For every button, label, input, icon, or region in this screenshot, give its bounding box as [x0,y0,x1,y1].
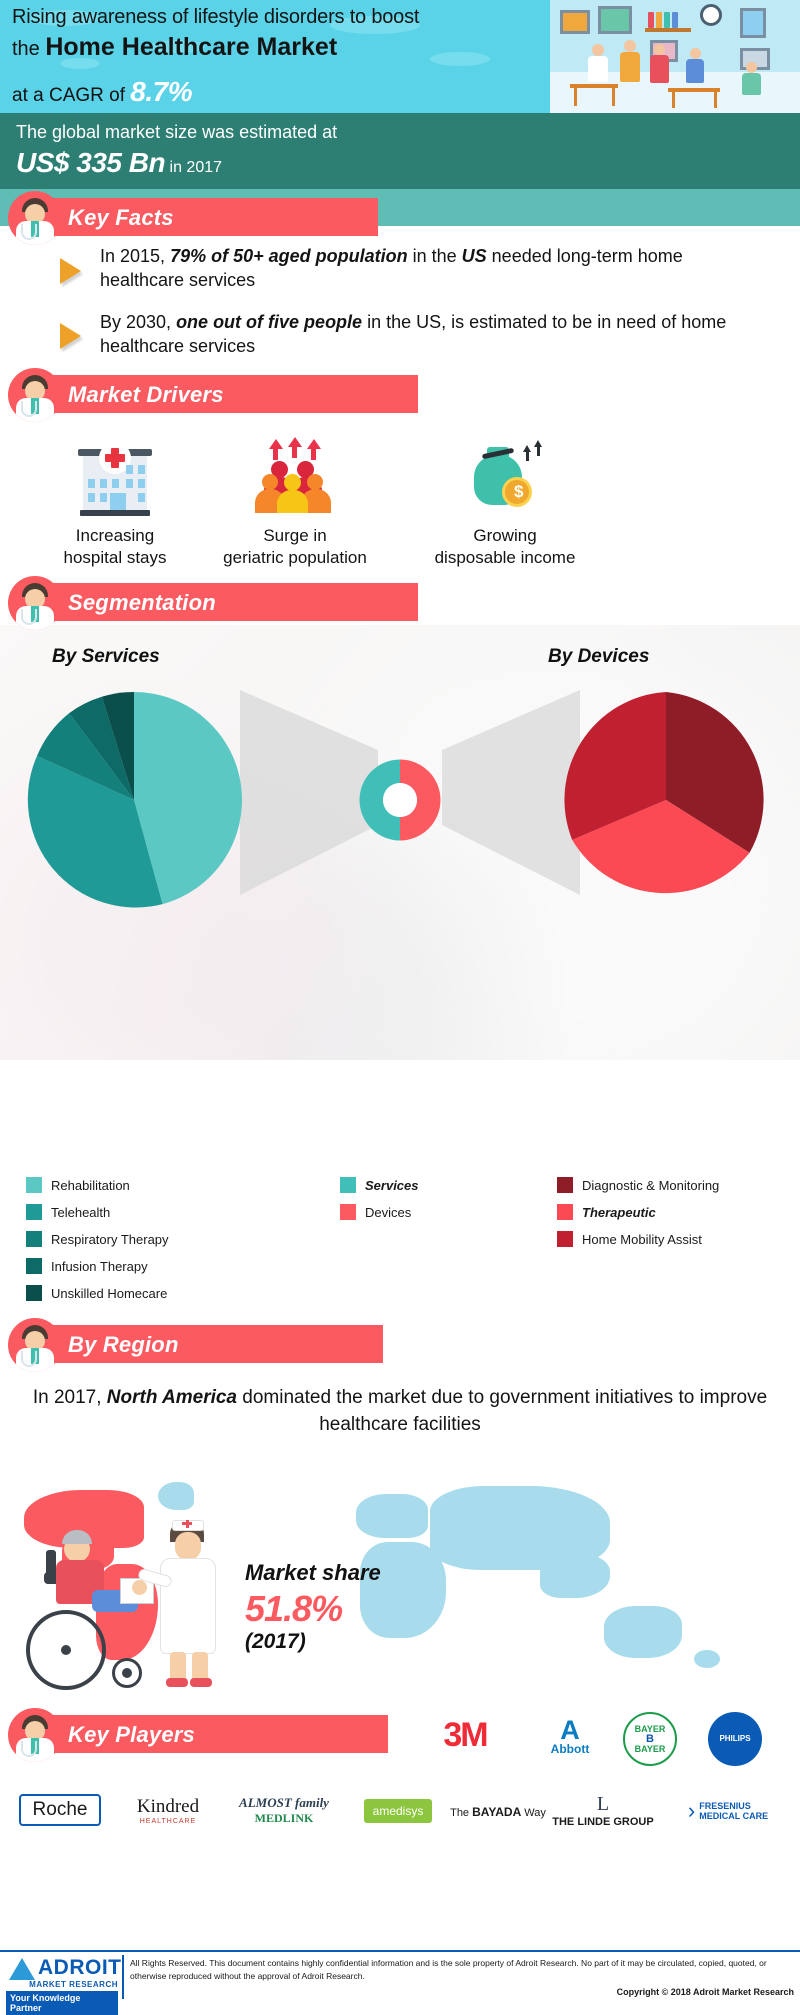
key-facts-title: Key Facts [68,205,174,231]
legend-swatch-icon [340,1204,356,1220]
legend-label: Home Mobility Assist [582,1232,702,1247]
doctor-avatar-icon [8,576,62,630]
fact-2-prefix: By 2030, [100,312,176,332]
market-size-value: US$ 335 Bn in 2017 [16,147,222,179]
map-region-new-zealand [694,1650,720,1668]
market-driver-item: Increasing hospital stays [10,437,220,569]
legend-label: Therapeutic [582,1205,656,1220]
adroit-triangle-icon [9,1958,35,1980]
driver-label-line-2: geriatric population [190,547,400,569]
segmentation-title: Segmentation [68,590,216,616]
legend-swatch-icon [26,1258,42,1274]
driver-label-line-2: hospital stays [10,547,220,569]
logo-abbott: A Abbott [530,1714,610,1760]
bullet-triangle-icon [60,323,81,349]
services-pie-chart [14,680,254,920]
by-region-title: By Region [68,1332,179,1358]
doctor-avatar-icon [8,368,62,422]
money-bag-icon: $ [460,437,550,517]
market-driver-item: Surge in geriatric population [190,437,400,569]
legend-label: Respiratory Therapy [51,1232,169,1247]
header-illustration [550,0,800,113]
section-header-segmentation: Segmentation [8,583,408,623]
market-size-number: US$ 335 Bn [16,147,165,178]
cagr-value: 8.7% [130,76,192,107]
legend-label: Diagnostic & Monitoring [582,1178,719,1193]
market-share-value: 51.8% [245,1588,342,1630]
header-line-2-prefix: the [12,38,45,60]
market-driver-item: $ Growing disposable income [400,437,610,569]
section-header-by-region: By Region [8,1325,383,1365]
header-cagr-line: at a CAGR of 8.7% [12,76,192,108]
legend-label: Devices [365,1205,411,1220]
section-header-market-drivers: Market Drivers [8,375,408,415]
market-split-donut-chart [355,755,445,845]
legend-item-home-mobility-assist: Home Mobility Assist [557,1231,702,1247]
legend-swatch-icon [557,1204,573,1220]
driver-label-line-2: disposable income [400,547,610,569]
key-players-title: Key Players [68,1722,195,1748]
legend-swatch-icon [340,1177,356,1193]
section-header-key-players: Key Players [8,1715,388,1755]
fact-1-strong-2: US [462,246,487,266]
legend-label: Infusion Therapy [51,1259,148,1274]
logo-philips: PHILIPS [705,1710,765,1768]
legend-label: Services [365,1178,419,1193]
wheelchair-large-wheel-icon [26,1610,106,1690]
chevron-icon: › [688,1798,695,1824]
map-region-africa [360,1542,446,1638]
key-fact-item: In 2015, 79% of 50+ aged population in t… [100,245,760,293]
legend-item-telehealth: Telehealth [26,1204,110,1220]
logo-the-linde-group: L THE LINDE GROUP [548,1790,658,1830]
legend-item-services: Services [340,1177,419,1193]
legend-item-rehabilitation: Rehabilitation [26,1177,130,1193]
legend-swatch-icon [26,1177,42,1193]
fact-1-prefix: In 2015, [100,246,170,266]
map-region-australia [604,1606,682,1658]
legend-item-respiratory-therapy: Respiratory Therapy [26,1231,169,1247]
market-share-title: Market share [245,1560,381,1586]
header: Rising awareness of lifestyle disorders … [0,0,800,188]
region-text-prefix: In 2017, [33,1387,107,1408]
footer-copyright: Copyright © 2018 Adroit Market Research [617,1987,794,1997]
nurse-uniform [160,1558,216,1654]
market-size-label: The global market size was estimated at [16,122,337,143]
footer-divider [122,1955,124,1999]
region-text-strong: North America [107,1387,237,1408]
logo-bayer: BAYER B BAYER [620,1710,680,1768]
cloud-shape [430,52,490,66]
geriatric-people-icon [250,437,340,517]
legend-swatch-icon [26,1285,42,1301]
bullet-triangle-icon [60,258,81,284]
nurse-head [175,1532,201,1560]
devices-pie-chart [546,680,786,920]
driver-label-line-1: Growing [400,525,610,547]
legend-swatch-icon [557,1231,573,1247]
doctor-avatar-icon [8,1708,62,1762]
fact-1-mid: in the [408,246,462,266]
by-devices-label: By Devices [548,646,649,668]
map-region-greenland [158,1482,194,1510]
market-size-year: in 2017 [165,159,222,176]
hospital-icon [70,437,160,517]
fact-2-mid: in the US, is estimated [362,312,547,332]
header-market-name: Home Healthcare Market [45,33,337,61]
logo-amedisys: amedisys [352,1795,444,1827]
legend-item-unskilled-homecare: Unskilled Homecare [26,1285,167,1301]
logo-kindred-healthcare: Kindred HEALTHCARE [118,1790,218,1830]
legend-label: Telehealth [51,1205,110,1220]
driver-label-line-1: Increasing [10,525,220,547]
legend-item-diagnostic-monitoring: Diagnostic & Monitoring [557,1177,719,1193]
logo-almost-family-medlink: ALMOST family MEDLINK [225,1790,343,1830]
logo-3m: 3M [425,1712,505,1758]
legend-item-infusion-therapy: Infusion Therapy [26,1258,148,1274]
market-share-year: (2017) [245,1630,306,1654]
footer: ADROIT MARKET RESEARCH Your Knowledge Pa… [0,1950,800,2000]
wheelchair-small-wheel-icon [112,1658,142,1688]
map-region-southeast-asia [540,1554,610,1598]
wheelchair-patient-illustration [20,1520,270,1695]
header-line-2: the Home Healthcare Market [12,33,337,62]
header-line-1: Rising awareness of lifestyle disorders … [12,6,419,29]
adroit-logo: ADROIT MARKET RESEARCH Your Knowledge Pa… [6,1956,118,2015]
doctor-avatar-icon [8,1318,62,1372]
legend-label: Rehabilitation [51,1178,130,1193]
fact-1-strong: 79% of 50+ aged population [170,246,408,266]
map-region-europe [356,1494,428,1538]
fact-2-strong: one out of five people [176,312,362,332]
doctor-avatar-icon [8,191,62,245]
footer-disclaimer: All Rights Reserved. This document conta… [130,1957,795,1983]
logo-bayada: The BAYADA Way [450,1795,546,1829]
cagr-prefix: at a CAGR of [12,85,130,106]
section-header-key-facts: Key Facts [8,198,378,238]
region-description: In 2017, North America dominated the mar… [0,1385,800,1439]
key-fact-item: By 2030, one out of five people in the U… [100,311,760,359]
legend-swatch-icon [26,1204,42,1220]
market-drivers-title: Market Drivers [68,382,224,408]
driver-label-line-1: Surge in [190,525,400,547]
legend-swatch-icon [557,1177,573,1193]
legend-swatch-icon [26,1231,42,1247]
legend-item-therapeutic: Therapeutic [557,1204,656,1220]
region-text-post: dominated the market due to government i… [237,1387,767,1435]
logo-fresenius-medical-care: › FRESENIUS MEDICAL CARE [662,1792,794,1830]
logo-roche: Roche [12,1790,108,1830]
legend-item-devices: Devices [340,1204,411,1220]
legend-label: Unskilled Homecare [51,1286,167,1301]
by-services-label: By Services [52,646,160,668]
